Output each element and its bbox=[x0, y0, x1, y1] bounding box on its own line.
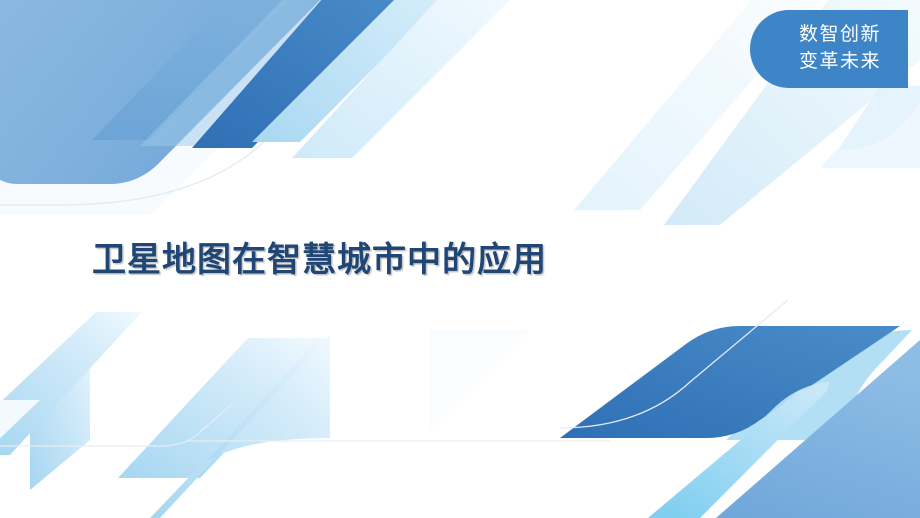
bottom-center-faint-1 bbox=[0, 400, 40, 448]
bottom-left-arrow-stripe bbox=[118, 338, 318, 478]
top-stripe-mid-1 bbox=[92, 0, 300, 140]
bottom-right-triangle-light-edge2 bbox=[660, 382, 830, 518]
top-stripe-pale-2 bbox=[292, 0, 520, 158]
bottom-right-triangle-light-edge bbox=[648, 390, 824, 518]
bottom-divider-curve bbox=[0, 404, 232, 446]
top-stripe-pale-1 bbox=[252, 0, 452, 142]
brand-badge: 数智创新 变革未来 bbox=[750, 10, 908, 88]
top-left-rounded-panel bbox=[0, 0, 330, 184]
bottom-right-dark-shape bbox=[560, 326, 900, 438]
bottom-left-stripe-outer bbox=[30, 318, 90, 490]
title-slide: 数智创新 变革未来 卫星地图在智慧城市中的应用 bbox=[0, 0, 920, 518]
bottom-left-wide-wedge bbox=[150, 335, 330, 518]
top-right-pale-block bbox=[838, 86, 920, 150]
top-left-outline-curve bbox=[0, 0, 400, 205]
bottom-center-faint-2 bbox=[430, 330, 530, 430]
top-stripe-dark bbox=[192, 0, 410, 148]
bottom-right-triangle bbox=[716, 340, 920, 518]
top-right-pale-curve bbox=[820, 104, 920, 168]
center-right-swoosh-visible bbox=[726, 330, 912, 440]
bottom-left-stripe-1 bbox=[0, 312, 142, 455]
brand-badge-line-2: 变革未来 bbox=[799, 49, 881, 76]
bottom-left-arrow-tail bbox=[190, 338, 330, 478]
page-title: 卫星地图在智慧城市中的应用 bbox=[92, 232, 547, 281]
top-stripe-light-1 bbox=[140, 0, 352, 146]
top-left-faint-underlay bbox=[0, 0, 380, 215]
brand-badge-line-1: 数智创新 bbox=[799, 22, 881, 49]
bottom-right-outline-curve bbox=[560, 300, 788, 428]
